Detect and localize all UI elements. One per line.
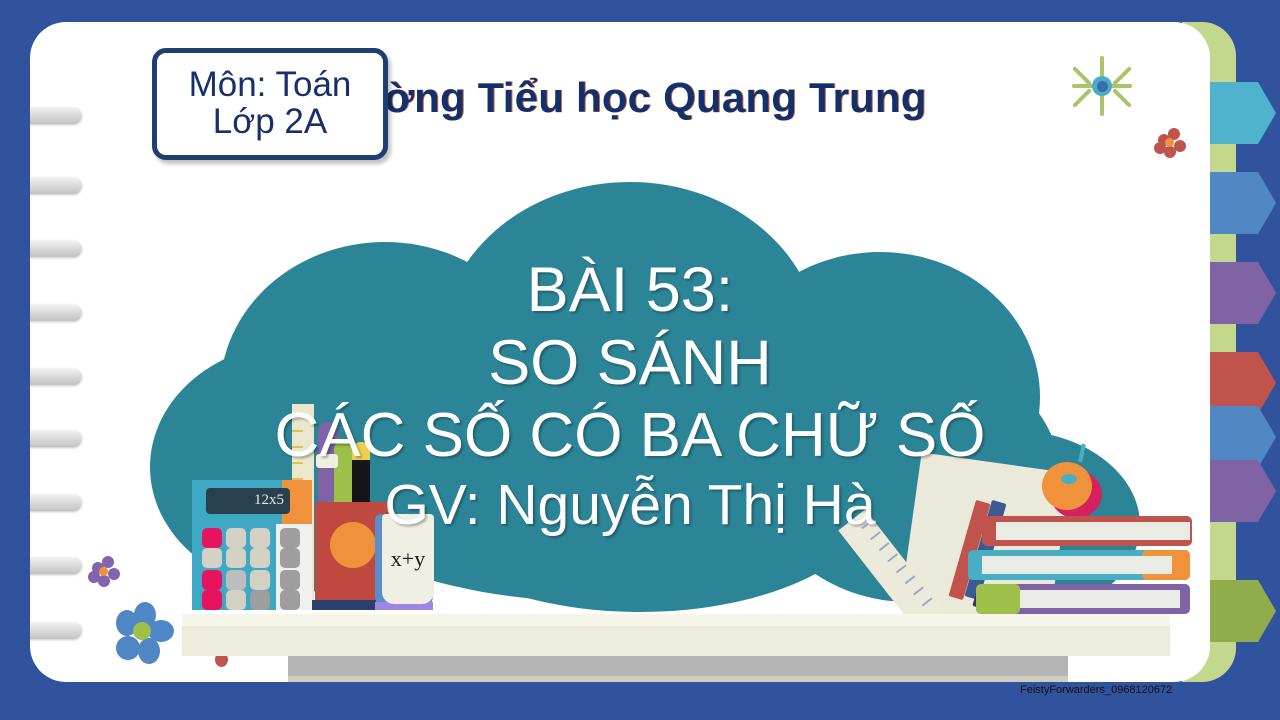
- spiral-ring-9: [30, 622, 82, 639]
- apple-leaf-icon: [1061, 474, 1077, 484]
- spiral-ring-4: [30, 304, 82, 321]
- lesson-title-line-3: CÁC SỐ CÓ BA CHỮ SỐ: [210, 400, 1050, 472]
- page-sheet: 12x5 x+y: [30, 22, 1210, 682]
- spiral-ring-7: [30, 494, 82, 511]
- desk-band-gray: [288, 656, 1068, 676]
- mug-text: x+y: [391, 546, 425, 572]
- spiral-ring-8: [30, 557, 82, 574]
- desk-top-highlight: [182, 614, 1170, 626]
- book-purple-pages: [1020, 590, 1180, 608]
- slide-canvas: 12x5 x+y: [0, 0, 1280, 720]
- watermark: FeistyForwarders_0968120672: [1020, 684, 1172, 696]
- spiral-ring-6: [30, 430, 82, 447]
- book-green-end-icon: [976, 584, 1020, 614]
- subject-badge: Môn: Toán Lớp 2A: [152, 48, 388, 160]
- book-teal-pages: [982, 556, 1172, 574]
- subject-line-2: Lớp 2A: [213, 104, 327, 141]
- spiral-ring-3: [30, 240, 82, 257]
- lesson-title-block: BÀI 53: SO SÁNH CÁC SỐ CÓ BA CHỮ SỐ GV: …: [210, 254, 1050, 538]
- spiral-ring-2: [30, 177, 82, 194]
- teacher-name: GV: Nguyễn Thị Hà: [210, 472, 1050, 538]
- spiral-ring-1: [30, 107, 82, 124]
- flower-burst-icon: [1072, 56, 1134, 118]
- subject-line-1: Môn: Toán: [189, 67, 352, 104]
- lesson-title-line-1: BÀI 53:: [210, 254, 1050, 327]
- lesson-title-line-2: SO SÁNH: [210, 327, 1050, 400]
- desk-band-beige: [288, 676, 1068, 682]
- spiral-ring-5: [30, 368, 82, 385]
